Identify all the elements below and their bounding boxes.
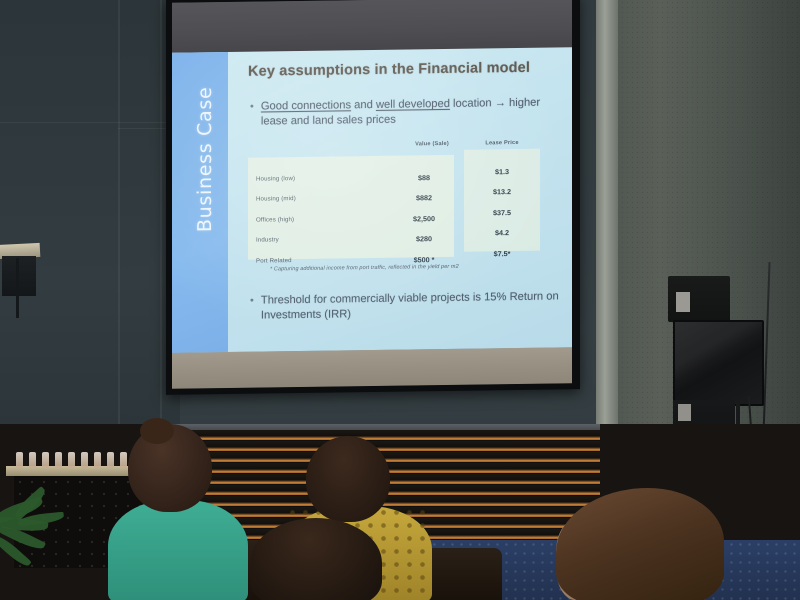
table-cell-label: Housing (low) bbox=[256, 175, 295, 183]
speaker-top-label bbox=[676, 292, 690, 312]
table-cell-value: $2,500 bbox=[388, 214, 460, 224]
slide-sidebar: Business Case bbox=[172, 52, 228, 353]
lectern-body bbox=[2, 256, 36, 296]
water-bottle bbox=[107, 452, 114, 468]
table-cell-lease: $7.5* bbox=[464, 248, 540, 258]
table-cell-lease: $37.5 bbox=[464, 207, 540, 217]
wall-seam-horizontal-2 bbox=[118, 128, 166, 129]
bullet-1-text: Good connections and well developed loca… bbox=[261, 95, 561, 128]
table-cell-label: Industry bbox=[256, 236, 279, 243]
hair-bun bbox=[140, 418, 174, 444]
wall-seam-vertical-1 bbox=[118, 0, 120, 430]
wall-slat bbox=[168, 430, 600, 440]
table-header-lease: Lease Price bbox=[470, 140, 534, 147]
water-bottle bbox=[68, 452, 75, 468]
speaker-middle-label bbox=[678, 404, 691, 421]
water-bottle bbox=[94, 452, 101, 468]
bullet-1-seg-2: well developed bbox=[376, 98, 450, 111]
screen-top-band bbox=[172, 0, 572, 55]
tv-screen-glare bbox=[675, 322, 762, 404]
water-bottle bbox=[16, 452, 23, 468]
water-bottle bbox=[29, 452, 36, 468]
screen-bottom-band bbox=[172, 347, 572, 389]
table-cell-value: $882 bbox=[388, 193, 460, 203]
slide: Business Case Key assumptions in the Fin… bbox=[172, 47, 572, 353]
table-cell-label: Offices (high) bbox=[256, 216, 294, 224]
table-cell-lease: $4.2 bbox=[464, 228, 540, 238]
assumptions-table: Value (Sale) Lease Price Housing (low) $… bbox=[248, 140, 548, 274]
table-cell-value: $500 * bbox=[388, 254, 460, 264]
table-body: Housing (low) $88 $1.3 Housing (mid) $88… bbox=[248, 168, 548, 274]
tv-monitor bbox=[673, 320, 764, 406]
wall-seam-horizontal-1 bbox=[0, 122, 166, 123]
water-bottle bbox=[120, 452, 127, 468]
table-cell-lease: $1.3 bbox=[464, 167, 540, 177]
lectern-pole bbox=[16, 258, 19, 318]
bullet-marker-icon: • bbox=[250, 101, 254, 114]
bullet-1-seg-1: and bbox=[351, 99, 376, 111]
bullet-1-seg-0: Good connections bbox=[261, 99, 351, 112]
water-bottle bbox=[55, 452, 62, 468]
wall-slat bbox=[168, 441, 600, 451]
slide-title: Key assumptions in the Financial model bbox=[248, 60, 530, 80]
table-cell-value: $280 bbox=[388, 234, 460, 244]
projection-screen-surface: Business Case Key assumptions in the Fin… bbox=[172, 0, 572, 389]
water-bottle bbox=[81, 452, 88, 468]
table-cell-label: Housing (mid) bbox=[256, 195, 296, 203]
table-cell-lease: $13.2 bbox=[464, 187, 540, 197]
bullet-2-text: Threshold for commercially viable projec… bbox=[261, 289, 561, 322]
attendee-body bbox=[108, 500, 248, 600]
slide-bullet-1: • Good connections and well developed lo… bbox=[250, 95, 561, 128]
left-wall-panel bbox=[0, 0, 180, 470]
bullet-marker-icon: • bbox=[250, 295, 254, 308]
slide-sidebar-label: Business Case bbox=[194, 64, 216, 254]
potted-plant bbox=[0, 498, 84, 600]
attendee-head bbox=[306, 436, 390, 522]
wall-seam-vertical-2 bbox=[160, 0, 162, 430]
wall-pillar bbox=[596, 0, 618, 470]
attendee-head bbox=[250, 518, 382, 600]
water-bottle bbox=[42, 452, 49, 468]
table-cell-value: $88 bbox=[388, 173, 460, 183]
slide-bullet-2: • Threshold for commercially viable proj… bbox=[250, 289, 561, 322]
table-header-value: Value (Sale) bbox=[400, 141, 464, 148]
presentation-room-photo: Business Case Key assumptions in the Fin… bbox=[0, 0, 800, 600]
table-cell-label: Port Related bbox=[256, 257, 292, 264]
